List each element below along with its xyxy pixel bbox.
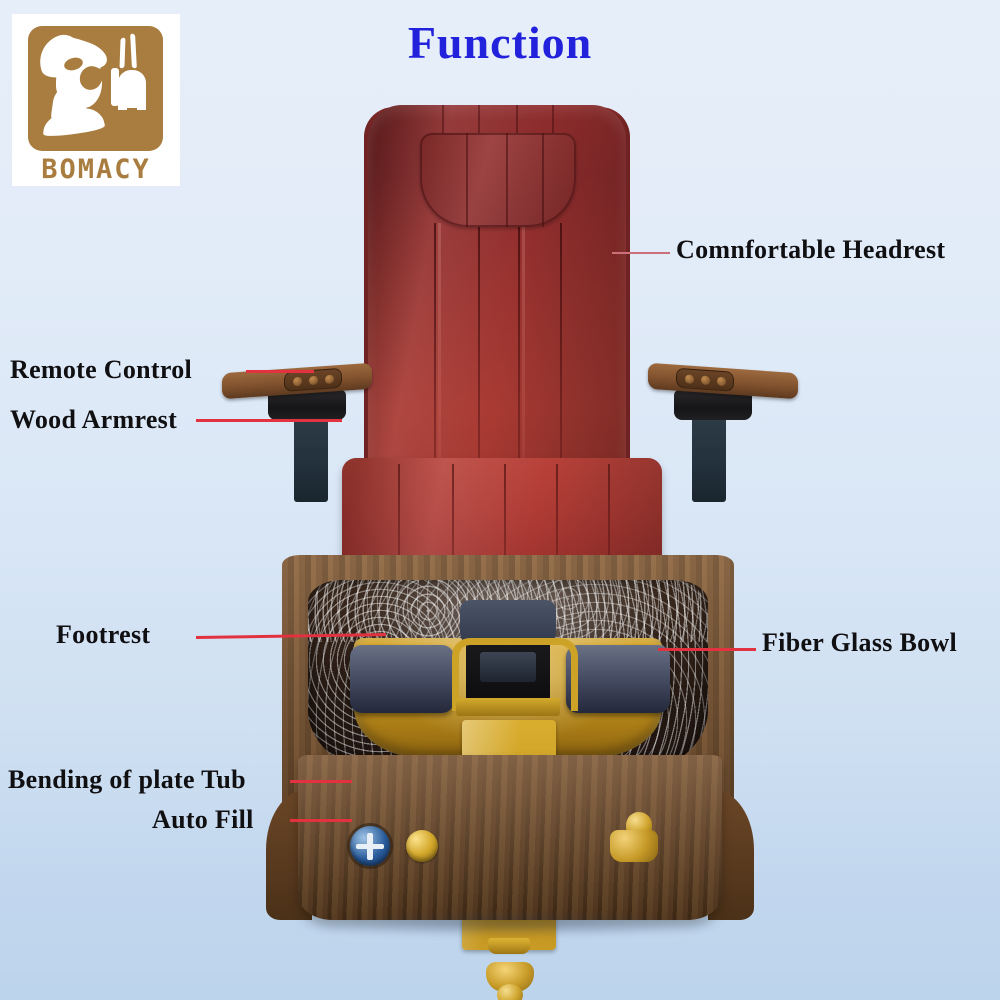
armrest-post <box>692 412 726 502</box>
armrest-post <box>294 412 328 502</box>
leader-line-wood-armrest <box>196 419 342 422</box>
wood-armrest-right <box>648 368 798 424</box>
callout-fiber-glass-bowl: Fiber Glass Bowl <box>762 628 957 658</box>
comfortable-headrest-pad <box>420 133 576 227</box>
steam-icon <box>130 33 137 68</box>
armrest-wood-panel <box>222 363 372 399</box>
callout-footrest: Footrest <box>56 620 150 650</box>
remote-control-right[interactable] <box>676 368 734 392</box>
leader-line-bending-plate-tub <box>290 780 352 783</box>
center-jet-pedestal <box>446 600 570 730</box>
faucet-spout <box>602 812 660 864</box>
callout-remote-control: Remote Control <box>10 355 192 385</box>
callout-wood-armrest: Wood Armrest <box>10 405 177 435</box>
armrest-wood-panel <box>648 363 798 399</box>
leader-line-remote-control <box>246 370 314 373</box>
logo-shoulder-shape <box>41 106 106 138</box>
callout-auto-fill: Auto Fill <box>152 805 254 835</box>
gold-plate-clip <box>488 938 530 954</box>
base-center-knob <box>497 984 523 1000</box>
steam-icon <box>119 37 125 68</box>
pot-foot-shape <box>118 98 127 110</box>
leader-line-headrest <box>612 252 670 254</box>
wood-armrest-left <box>222 368 372 424</box>
control-knob[interactable] <box>406 830 438 862</box>
brand-logo: BOMACY <box>12 14 180 186</box>
pedicure-spa-chair-image <box>250 100 770 930</box>
pot-foot-shape <box>137 98 146 110</box>
infographic-canvas: Function BOMACY <box>0 0 1000 1000</box>
callout-comnfortable-headrest: Comnfortable Headrest <box>676 235 945 265</box>
pedestal-gold-base <box>456 698 560 716</box>
footrest-pad-left <box>350 645 454 713</box>
bomacy-logo-icon <box>28 26 163 151</box>
footrest-pad-right <box>566 645 670 713</box>
callout-bending-of-plate-tub: Bending of plate Tub <box>8 765 246 795</box>
brand-name: BOMACY <box>12 154 180 185</box>
leader-line-fiber-glass-bowl <box>658 648 756 651</box>
chair-backrest <box>368 105 626 495</box>
floor-shadow <box>290 912 730 938</box>
auto-fill-valve[interactable] <box>350 826 390 866</box>
leader-line-auto-fill <box>290 819 352 822</box>
